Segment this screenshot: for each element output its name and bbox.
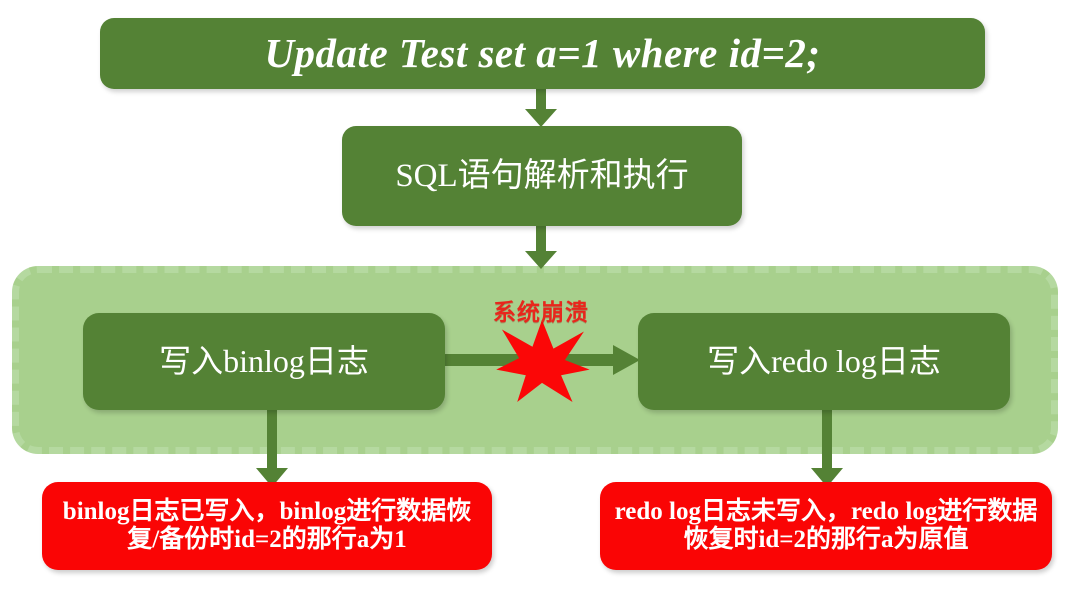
arrow-down-icon xyxy=(255,410,289,488)
arrow-down-icon xyxy=(524,226,558,270)
arrow-binlog-to-result xyxy=(255,410,289,488)
arrow-redolog-to-result xyxy=(810,410,844,488)
binlog-result-text: binlog日志已写入，binlog进行数据恢复/备份时id=2的那行a为1 xyxy=(54,498,480,554)
sql-parse-execute-text: SQL语句解析和执行 xyxy=(342,158,742,195)
diagram-canvas: Update Test set a=1 where id=2; SQL语句解析和… xyxy=(0,0,1080,593)
binlog-result-note: binlog日志已写入，binlog进行数据恢复/备份时id=2的那行a为1 xyxy=(42,482,492,570)
explosion-star-icon xyxy=(494,320,590,402)
redolog-result-text: redo log日志未写入，redo log进行数据恢复时id=2的那行a为原值 xyxy=(612,498,1040,554)
binlog-write-node: 写入binlog日志 xyxy=(83,313,445,410)
arrow-banner-to-parse xyxy=(524,88,558,128)
sql-parse-execute-node: SQL语句解析和执行 xyxy=(342,126,742,226)
arrow-parse-to-group xyxy=(524,226,558,270)
sql-statement-banner: Update Test set a=1 where id=2; xyxy=(100,18,985,89)
sql-statement-text: Update Test set a=1 where id=2; xyxy=(100,31,985,77)
system-crash-marker xyxy=(494,320,590,402)
binlog-write-text: 写入binlog日志 xyxy=(83,344,445,380)
system-crash-label: 系统崩溃 xyxy=(461,293,621,327)
redolog-write-node: 写入redo log日志 xyxy=(638,313,1010,410)
redolog-write-text: 写入redo log日志 xyxy=(638,344,1010,380)
arrow-down-icon xyxy=(524,88,558,128)
arrow-down-icon xyxy=(810,410,844,488)
redolog-result-note: redo log日志未写入，redo log进行数据恢复时id=2的那行a为原值 xyxy=(600,482,1052,570)
